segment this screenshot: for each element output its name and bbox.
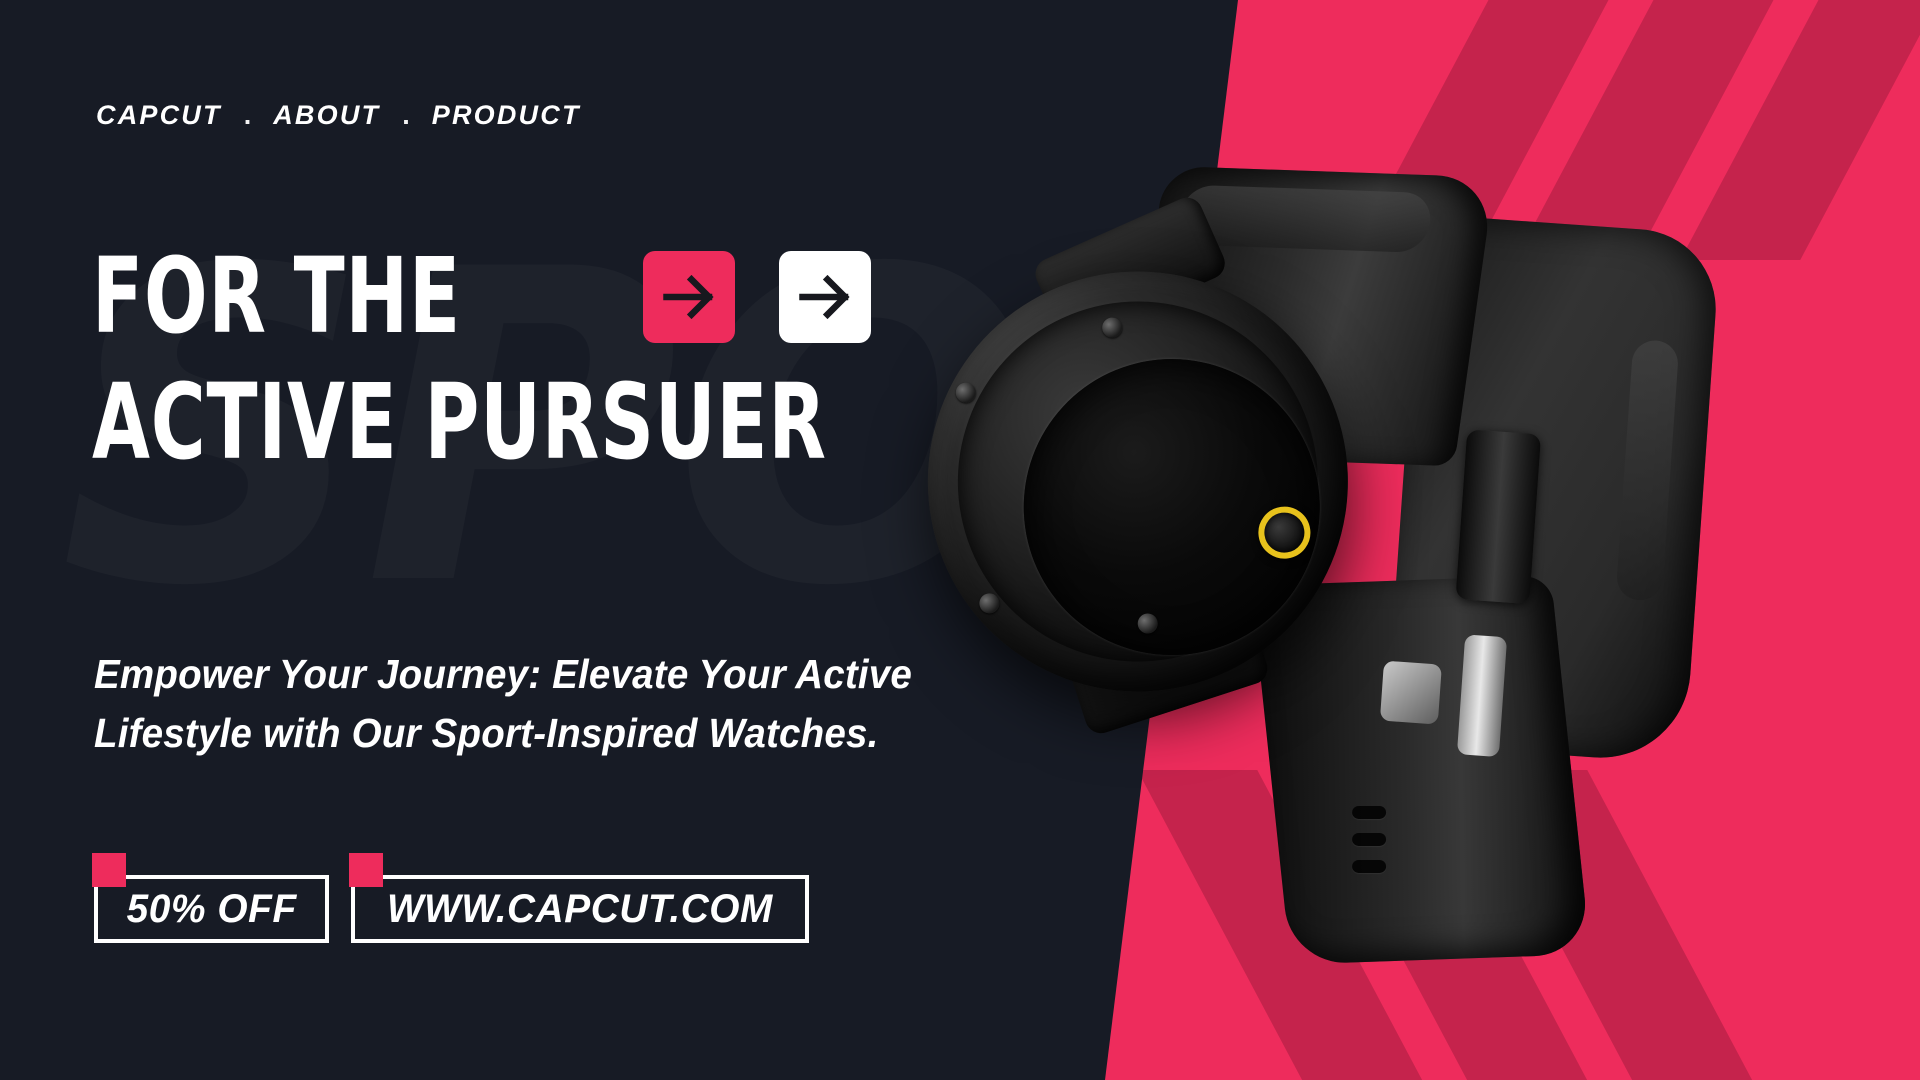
nav-item-product[interactable]: PRODUCT bbox=[432, 100, 581, 131]
body-copy-line-2: Lifestyle with Our Sport-Inspired Watche… bbox=[94, 704, 940, 763]
product-image-smartwatch bbox=[1010, 150, 1800, 950]
headline-block: FOR THE ACTIVE PURSUER bbox=[92, 243, 1011, 477]
nav-separator: . bbox=[380, 100, 432, 131]
headline-line-1-row: FOR THE bbox=[92, 243, 1011, 351]
website-badge-label: WWW.CAPCUT.COM bbox=[387, 887, 773, 932]
discount-badge[interactable]: 50% OFF bbox=[94, 875, 329, 943]
watch-screw bbox=[978, 592, 1001, 615]
watch-strap-holes bbox=[1352, 792, 1472, 912]
arrow-button-secondary[interactable] bbox=[779, 251, 871, 343]
cta-badge-row: 50% OFF WWW.CAPCUT.COM bbox=[94, 875, 809, 943]
arrow-button-primary[interactable] bbox=[643, 251, 735, 343]
watch-strap-keeper bbox=[1455, 429, 1541, 604]
nav-item-about[interactable]: ABOUT bbox=[273, 100, 380, 131]
badge-corner-accent bbox=[349, 853, 383, 887]
watch-buckle-pin bbox=[1380, 661, 1442, 725]
promo-banner: SPO CAPCUT . ABOUT . PRODUCT FOR THE bbox=[0, 0, 1920, 1080]
headline-line-2: ACTIVE PURSUER bbox=[92, 373, 827, 473]
badge-corner-accent bbox=[92, 853, 126, 887]
nav-item-capcut[interactable]: CAPCUT bbox=[96, 100, 222, 131]
discount-badge-label: 50% OFF bbox=[127, 887, 297, 932]
headline-line-1: FOR THE bbox=[92, 247, 461, 347]
discount-badge-box[interactable]: 50% OFF bbox=[94, 875, 329, 943]
arrow-button-group bbox=[643, 251, 871, 343]
body-copy-line-1: Empower Your Journey: Elevate Your Activ… bbox=[94, 645, 940, 704]
website-badge-box[interactable]: WWW.CAPCUT.COM bbox=[351, 875, 809, 943]
top-navigation: CAPCUT . ABOUT . PRODUCT bbox=[96, 100, 581, 131]
body-copy: Empower Your Journey: Elevate Your Activ… bbox=[94, 645, 994, 764]
headline-line-2-row: ACTIVE PURSUER bbox=[92, 369, 1011, 477]
nav-separator: . bbox=[222, 100, 274, 131]
arrow-right-icon bbox=[659, 267, 719, 327]
arrow-right-icon bbox=[795, 267, 855, 327]
watch-buckle bbox=[1457, 634, 1507, 757]
website-badge[interactable]: WWW.CAPCUT.COM bbox=[351, 875, 809, 943]
